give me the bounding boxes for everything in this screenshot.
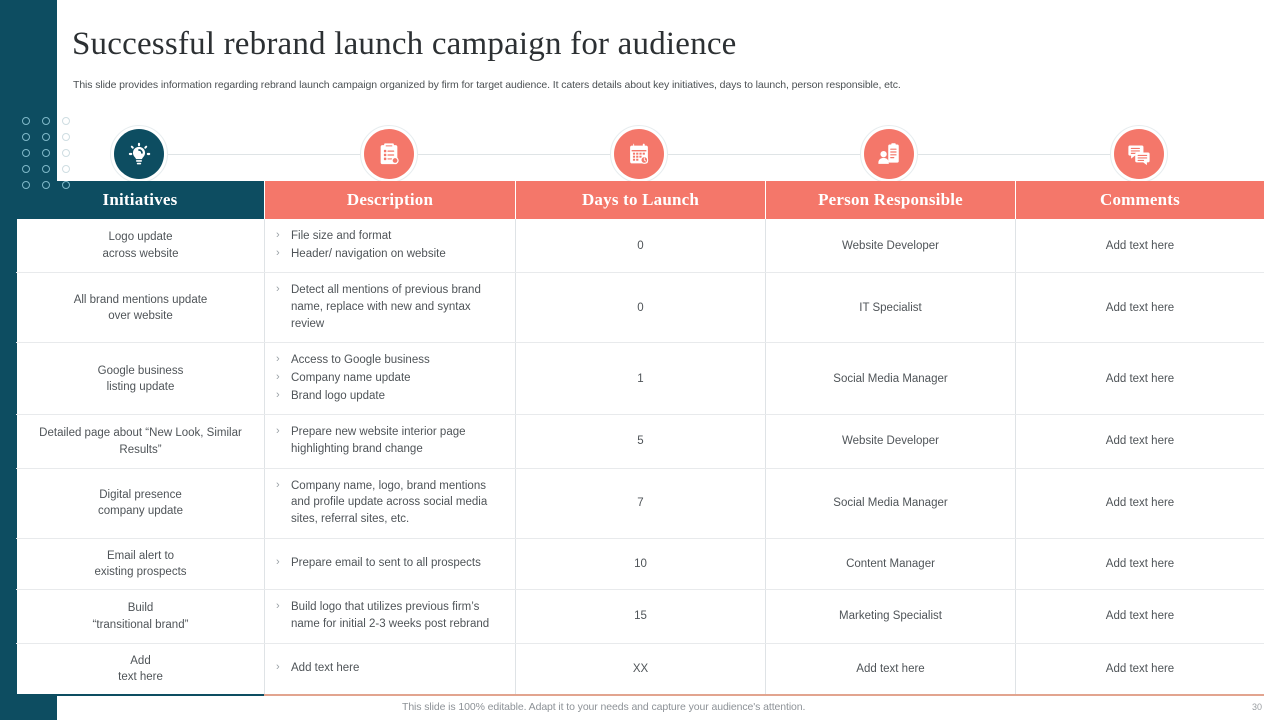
decorative-dot <box>22 117 30 125</box>
description-bullet-text: Prepare email to sent to all prospects <box>291 555 507 572</box>
description-bullet-text: Build logo that utilizes previous firm’s… <box>291 599 507 632</box>
description-bullet-list: ›Access to Google business›Company name … <box>273 352 507 405</box>
decorative-dot <box>62 133 70 141</box>
description-bullet: ›File size and format <box>273 228 507 245</box>
table-header-row: Initiatives Description Days to Launch P… <box>16 181 1264 219</box>
cell-description: ›Add text here <box>264 644 515 695</box>
cell-description: ›Detect all mentions of previous brand n… <box>264 273 515 342</box>
column-header-person-responsible: Person Responsible <box>765 181 1015 219</box>
cell-initiative: Addtext here <box>16 644 264 695</box>
description-bullet-text: Header/ navigation on website <box>291 246 507 263</box>
chevron-right-icon: › <box>273 246 291 262</box>
decorative-dot <box>42 181 50 189</box>
table-row: All brand mentions updateover website›De… <box>16 273 1264 343</box>
column-header-description: Description <box>264 181 515 219</box>
initiatives-table: Initiatives Description Days to Launch P… <box>16 181 1264 696</box>
table-row: Email alert toexisting prospects›Prepare… <box>16 539 1264 591</box>
cell-description: ›Prepare email to sent to all prospects <box>264 539 515 590</box>
cell-initiative: Email alert toexisting prospects <box>16 539 264 590</box>
table-row: Google businesslisting update›Access to … <box>16 343 1264 415</box>
decorative-dot <box>42 117 50 125</box>
description-bullet-list: ›Build logo that utilizes previous firm’… <box>273 599 507 633</box>
chevron-right-icon: › <box>273 228 291 244</box>
timeline-node-1 <box>110 125 168 183</box>
decorative-dot <box>62 149 70 157</box>
cell-description: ›Company name, logo, brand mentions and … <box>264 469 515 538</box>
cell-person-responsible: Website Developer <box>765 219 1015 272</box>
decorative-dot <box>42 149 50 157</box>
cell-days-to-launch: 10 <box>515 539 765 590</box>
description-bullet: ›Access to Google business <box>273 352 507 369</box>
cell-person-responsible: Add text here <box>765 644 1015 695</box>
description-bullet: ›Company name, logo, brand mentions and … <box>273 478 507 528</box>
cell-person-responsible: IT Specialist <box>765 273 1015 342</box>
decorative-dot <box>22 181 30 189</box>
page-subtitle: This slide provides information regardin… <box>73 79 1193 91</box>
cell-comments: Add text here <box>1015 415 1264 467</box>
calendar-clock-icon <box>614 129 664 179</box>
chevron-right-icon: › <box>273 370 291 386</box>
chevron-right-icon: › <box>273 352 291 368</box>
decorative-dot <box>22 165 30 173</box>
description-bullet-text: Detect all mentions of previous brand na… <box>291 282 507 332</box>
description-bullet: ›Detect all mentions of previous brand n… <box>273 282 507 332</box>
chevron-right-icon: › <box>273 282 291 298</box>
description-bullet-text: Company name, logo, brand mentions and p… <box>291 478 507 528</box>
page-title: Successful rebrand launch campaign for a… <box>72 26 1172 63</box>
person-clipboard-icon <box>864 129 914 179</box>
lightbulb-idea-icon <box>114 129 164 179</box>
column-header-comments: Comments <box>1015 181 1264 219</box>
decorative-dot <box>62 117 70 125</box>
decorative-dot <box>62 165 70 173</box>
cell-person-responsible: Social Media Manager <box>765 469 1015 538</box>
cell-days-to-launch: 0 <box>515 219 765 272</box>
cell-comments: Add text here <box>1015 219 1264 272</box>
chevron-right-icon: › <box>273 478 291 494</box>
timeline-node-2 <box>360 125 418 183</box>
description-bullet-text: Add text here <box>291 660 507 677</box>
cell-comments: Add text here <box>1015 469 1264 538</box>
page-number: 30 <box>1252 702 1262 712</box>
decorative-dot <box>42 133 50 141</box>
cell-comments: Add text here <box>1015 590 1264 642</box>
decorative-dot-grid <box>22 117 74 192</box>
speech-bubbles-icon <box>1114 129 1164 179</box>
chevron-right-icon: › <box>273 660 291 676</box>
cell-initiative: Build“transitional brand” <box>16 590 264 642</box>
cell-days-to-launch: 0 <box>515 273 765 342</box>
cell-initiative: Google businesslisting update <box>16 343 264 414</box>
table-row: Digital presencecompany update›Company n… <box>16 469 1264 539</box>
table-row: Build“transitional brand”›Build logo tha… <box>16 590 1264 643</box>
description-bullet-text: Company name update <box>291 370 507 387</box>
chevron-right-icon: › <box>273 599 291 615</box>
cell-initiative: Digital presencecompany update <box>16 469 264 538</box>
chevron-right-icon: › <box>273 555 291 571</box>
description-bullet: ›Header/ navigation on website <box>273 246 507 263</box>
cell-initiative: All brand mentions updateover website <box>16 273 264 342</box>
cell-days-to-launch: 15 <box>515 590 765 642</box>
decorative-dot <box>42 165 50 173</box>
timeline-node-4 <box>860 125 918 183</box>
description-bullet-list: ›Prepare email to sent to all prospects <box>273 555 507 573</box>
cell-description: ›File size and format›Header/ navigation… <box>264 219 515 272</box>
table-row: Addtext here›Add text hereXXAdd text her… <box>16 644 1264 695</box>
table-row: Detailed page about “New Look, Similar R… <box>16 415 1264 468</box>
cell-comments: Add text here <box>1015 644 1264 695</box>
description-bullet: ›Prepare email to sent to all prospects <box>273 555 507 572</box>
cell-comments: Add text here <box>1015 343 1264 414</box>
cell-description: ›Access to Google business›Company name … <box>264 343 515 414</box>
timeline-node-5 <box>1110 125 1168 183</box>
cell-comments: Add text here <box>1015 273 1264 342</box>
table-row: Logo updateacross website›File size and … <box>16 219 1264 273</box>
cell-comments: Add text here <box>1015 539 1264 590</box>
cell-description: ›Build logo that utilizes previous firm’… <box>264 590 515 642</box>
cell-description: ›Prepare new website interior page highl… <box>264 415 515 467</box>
description-bullet-list: ›Prepare new website interior page highl… <box>273 424 507 458</box>
description-bullet-text: File size and format <box>291 228 507 245</box>
cell-person-responsible: Social Media Manager <box>765 343 1015 414</box>
cell-person-responsible: Website Developer <box>765 415 1015 467</box>
description-bullet-list: ›Add text here <box>273 660 507 678</box>
cell-days-to-launch: 7 <box>515 469 765 538</box>
description-bullet: ›Prepare new website interior page highl… <box>273 424 507 457</box>
cell-days-to-launch: XX <box>515 644 765 695</box>
description-bullet-list: ›File size and format›Header/ navigation… <box>273 228 507 263</box>
slide-canvas: Successful rebrand launch campaign for a… <box>0 0 1280 720</box>
cell-days-to-launch: 1 <box>515 343 765 414</box>
cell-person-responsible: Content Manager <box>765 539 1015 590</box>
decorative-dot <box>22 133 30 141</box>
description-bullet-list: ›Company name, logo, brand mentions and … <box>273 478 507 529</box>
cell-initiative: Detailed page about “New Look, Similar R… <box>16 415 264 467</box>
clipboard-checklist-icon <box>364 129 414 179</box>
footer-note: This slide is 100% editable. Adapt it to… <box>402 701 805 713</box>
cell-person-responsible: Marketing Specialist <box>765 590 1015 642</box>
chevron-right-icon: › <box>273 388 291 404</box>
chevron-right-icon: › <box>273 424 291 440</box>
table-bottom-rule <box>16 694 1264 696</box>
column-header-days-to-launch: Days to Launch <box>515 181 765 219</box>
description-bullet-text: Access to Google business <box>291 352 507 369</box>
description-bullet-text: Brand logo update <box>291 388 507 405</box>
timeline-node-3 <box>610 125 668 183</box>
cell-days-to-launch: 5 <box>515 415 765 467</box>
decorative-dot <box>62 181 70 189</box>
description-bullet-text: Prepare new website interior page highli… <box>291 424 507 457</box>
description-bullet-list: ›Detect all mentions of previous brand n… <box>273 282 507 333</box>
description-bullet: ›Brand logo update <box>273 388 507 405</box>
icon-timeline <box>110 125 1170 185</box>
description-bullet: ›Add text here <box>273 660 507 677</box>
description-bullet: ›Company name update <box>273 370 507 387</box>
decorative-dot <box>22 149 30 157</box>
description-bullet: ›Build logo that utilizes previous firm’… <box>273 599 507 632</box>
cell-initiative: Logo updateacross website <box>16 219 264 272</box>
